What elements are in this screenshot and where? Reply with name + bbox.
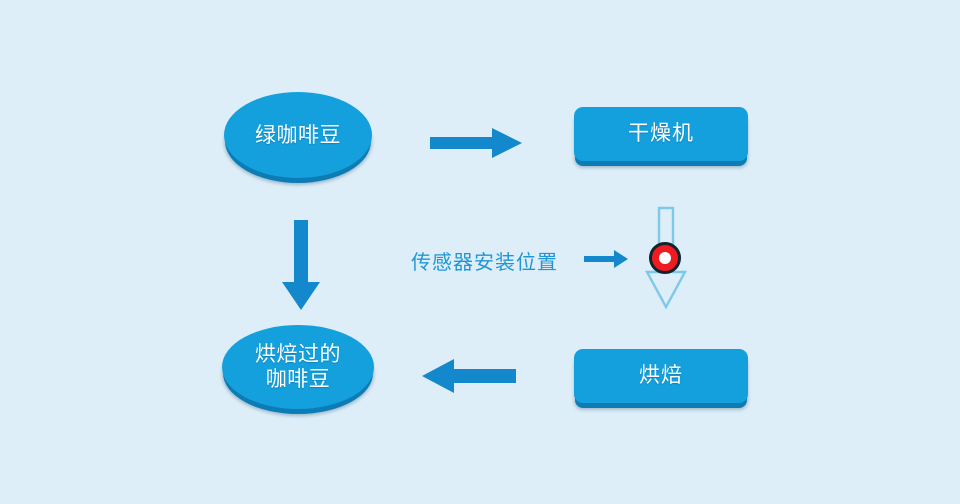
node-green-coffee-beans-label: 绿咖啡豆 [255, 123, 341, 148]
annotation-pointer-arrow [584, 249, 628, 269]
arrow-beans-to-roasted-down [282, 220, 320, 310]
arrow-beans-to-dryer [430, 125, 522, 161]
node-roasting-label: 烘焙 [639, 363, 683, 388]
node-dryer[interactable]: 干燥机 [574, 107, 748, 161]
node-roasting[interactable]: 烘焙 [574, 349, 748, 403]
node-green-coffee-beans[interactable]: 绿咖啡豆 [224, 92, 372, 178]
annotation-sensor-location-label: 传感器安装位置 [411, 246, 558, 275]
sensor-installation-point-icon[interactable] [649, 242, 681, 274]
node-roasted-coffee-beans[interactable]: 烘焙过的 咖啡豆 [222, 325, 374, 409]
node-dryer-label: 干燥机 [628, 121, 694, 146]
arrow-roasting-to-roasted-beans [422, 358, 516, 394]
diagram-canvas: 绿咖啡豆 干燥机 烘焙过的 咖啡豆 烘焙 传感器安装位置 [0, 0, 960, 504]
node-roasted-coffee-beans-label: 烘焙过的 咖啡豆 [255, 342, 341, 392]
sensor-core-icon [659, 252, 671, 264]
